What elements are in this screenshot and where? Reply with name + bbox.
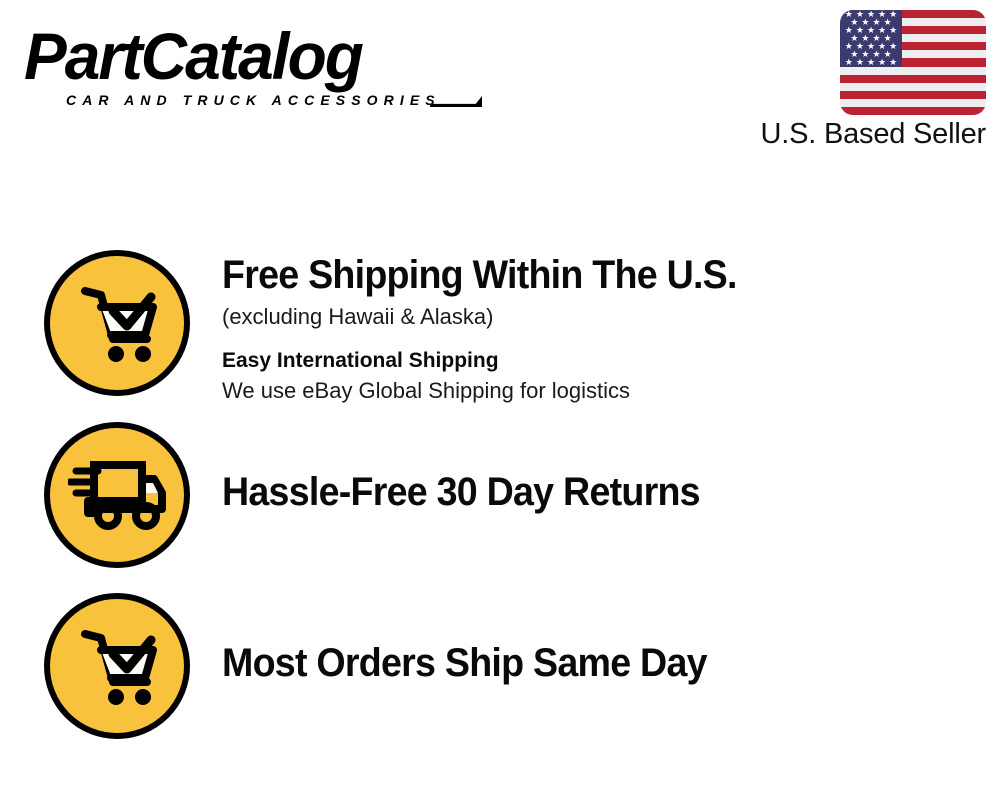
promo-banner: PartCatalog CAR AND TRUCK ACCESSORIES ★★… (0, 0, 1000, 800)
feature-text: Free Shipping Within The U.S. (excluding… (222, 250, 962, 406)
feature-text: Most Orders Ship Same Day (222, 593, 962, 686)
feature-subline: We use eBay Global Shipping for logistic… (222, 376, 962, 406)
delivery-truck-icon (44, 422, 190, 568)
feature-note: (excluding Hawaii & Alaska) (222, 302, 962, 332)
feature-subhead: Easy International Shipping (222, 346, 962, 376)
feature-list: Free Shipping Within The U.S. (excluding… (0, 0, 1000, 800)
feature-headline: Free Shipping Within The U.S. (222, 252, 918, 298)
feature-text: Hassle-Free 30 Day Returns (222, 422, 962, 515)
shopping-cart-check-icon (44, 593, 190, 739)
feature-headline: Hassle-Free 30 Day Returns (222, 469, 918, 515)
shopping-cart-check-icon (44, 250, 190, 396)
feature-headline: Most Orders Ship Same Day (222, 640, 918, 686)
